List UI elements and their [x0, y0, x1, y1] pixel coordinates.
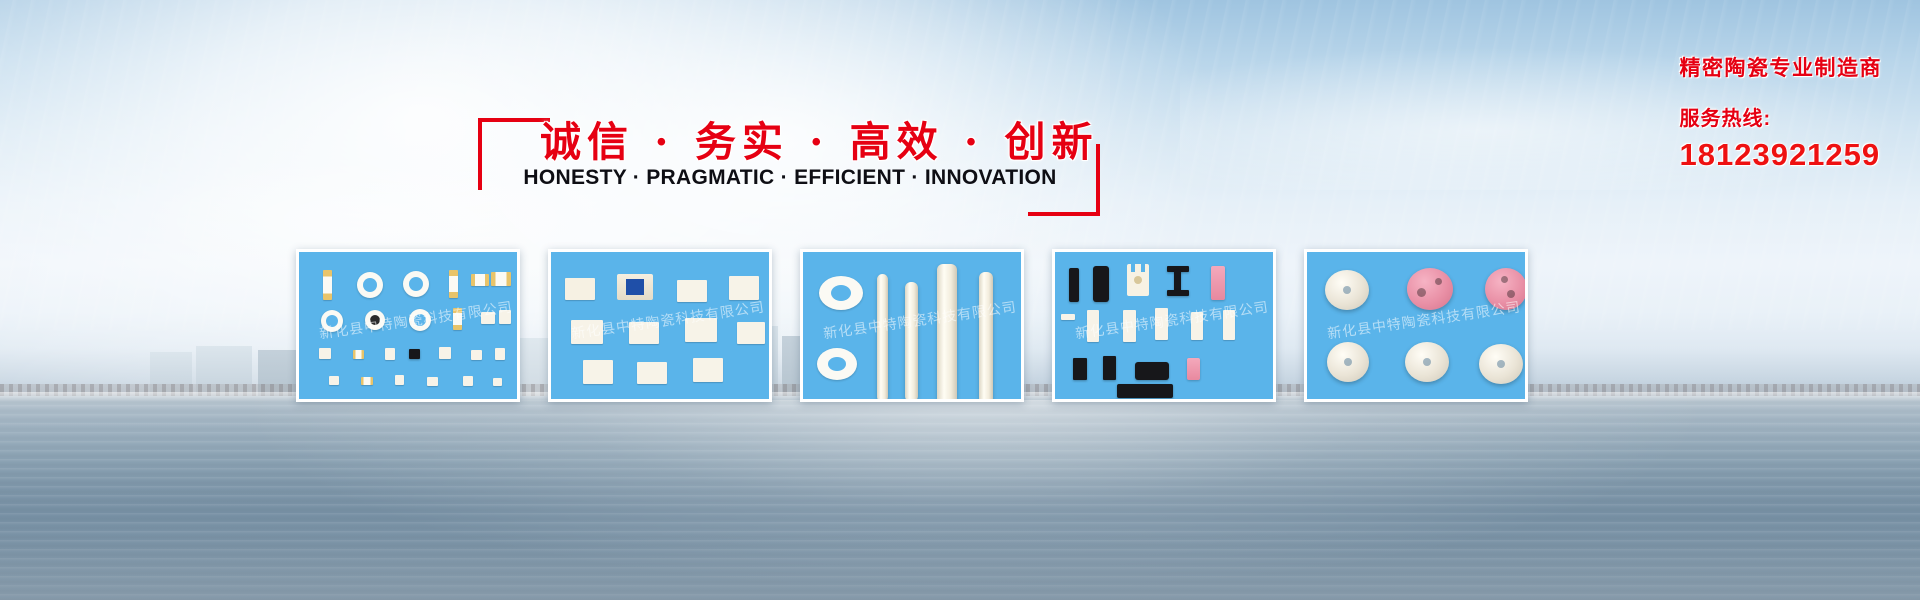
water-sheen	[250, 400, 1700, 590]
hotline-number[interactable]: 18123921259	[1680, 137, 1883, 173]
panel-smd-boards[interactable]: 新化县中特陶瓷科技有限公司	[548, 249, 772, 402]
hotline-label: 服务热线:	[1680, 102, 1883, 131]
panel-ceramic-discs[interactable]: 新化县中特陶瓷科技有限公司	[1304, 249, 1528, 402]
panel-ceramic-blocks[interactable]: 新化县中特陶瓷科技有限公司	[1052, 249, 1276, 402]
panel-ceramic-rods[interactable]: 新化县中特陶瓷科技有限公司	[800, 249, 1024, 402]
product-gallery: 新化县中特陶瓷科技有限公司 新化县中特陶瓷科技有限公司	[296, 249, 1528, 402]
slogan-english: HONESTY · PRAGMATIC · EFFICIENT · INNOVA…	[520, 166, 1060, 190]
contact-info-block: 精密陶瓷专业制造商 服务热线: 18123921259	[1680, 52, 1883, 173]
panel-chip-components[interactable]: 新化县中特陶瓷科技有限公司	[296, 249, 520, 402]
hero-banner: 诚信 · 务实 · 高效 · 创新 HONESTY · PRAGMATIC · …	[0, 0, 1920, 600]
slogan-block: 诚信 · 务实 · 高效 · 创新 HONESTY · PRAGMATIC · …	[478, 108, 1100, 198]
company-tagline: 精密陶瓷专业制造商	[1680, 52, 1883, 82]
slogan-chinese: 诚信 · 务实 · 高效 · 创新	[540, 108, 1040, 168]
